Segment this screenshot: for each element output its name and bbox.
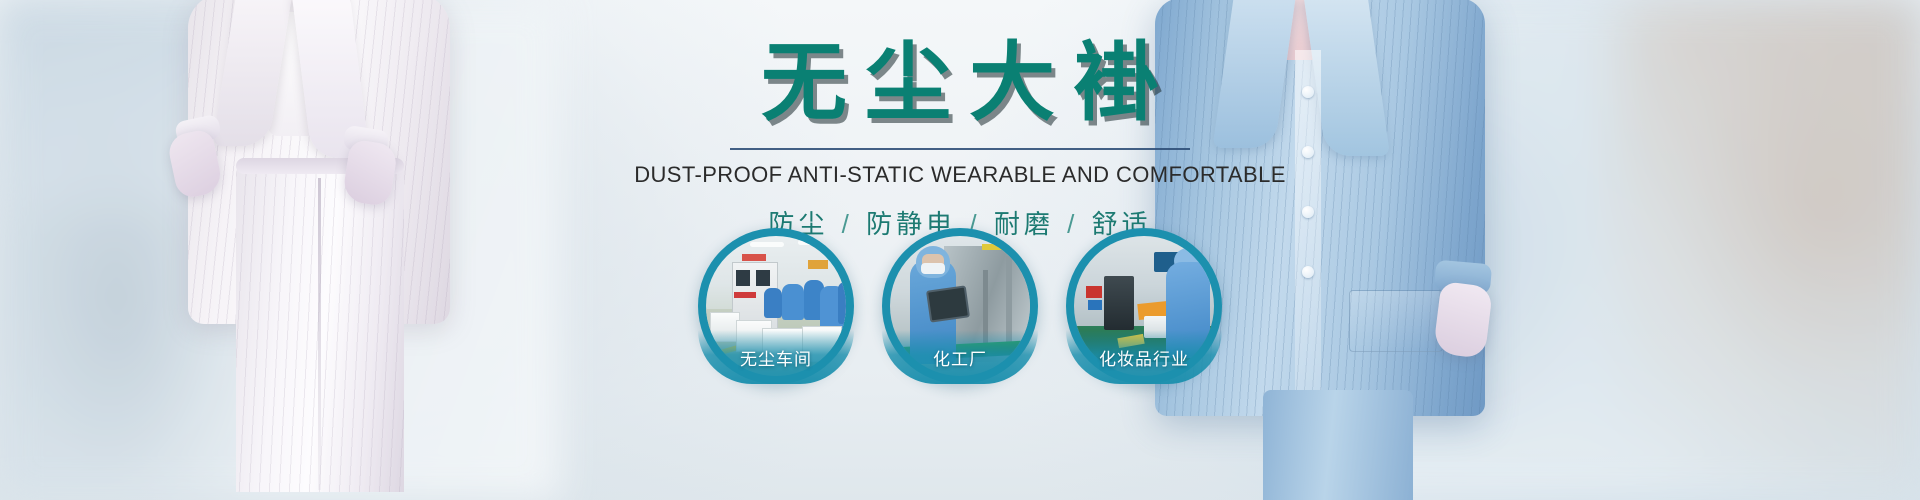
equipment-unit (1104, 276, 1134, 330)
worker-figure (764, 288, 782, 318)
application-badge-row: 无尘车间 化工厂 (0, 228, 1920, 384)
ceiling-lamp-icon (750, 242, 784, 247)
wall-sign (808, 260, 828, 269)
title-divider (730, 148, 1190, 150)
badge-label: 化工厂 (882, 345, 1038, 370)
worker-figure (838, 282, 846, 324)
indicator-red (1086, 286, 1102, 298)
wall-sign (734, 292, 756, 298)
badge-cosmetics-industry[interactable]: 化妆品行业 (1066, 228, 1222, 384)
door-window (756, 270, 770, 286)
page-title: 无尘大褂 (743, 40, 1177, 126)
subtitle-english: DUST-PROOF ANTI-STATIC WEARABLE AND COMF… (634, 162, 1286, 188)
indicator-blue (1088, 300, 1102, 310)
ceiling-lamp-icon (798, 240, 828, 245)
door-window (736, 270, 750, 286)
badge-label: 化妆品行业 (1066, 345, 1222, 370)
badge-label: 无尘车间 (698, 345, 854, 370)
yellow-marker (982, 244, 1008, 250)
tablet-device (926, 285, 970, 322)
technician-mask (921, 263, 945, 274)
badge-chemical-plant[interactable]: 化工厂 (882, 228, 1038, 384)
worker-figure (782, 284, 804, 320)
wall-sign (742, 254, 766, 261)
badge-cleanroom-workshop[interactable]: 无尘车间 (698, 228, 854, 384)
product-banner: 无尘大褂 DUST-PROOF ANTI-STATIC WEARABLE AND… (0, 0, 1920, 500)
